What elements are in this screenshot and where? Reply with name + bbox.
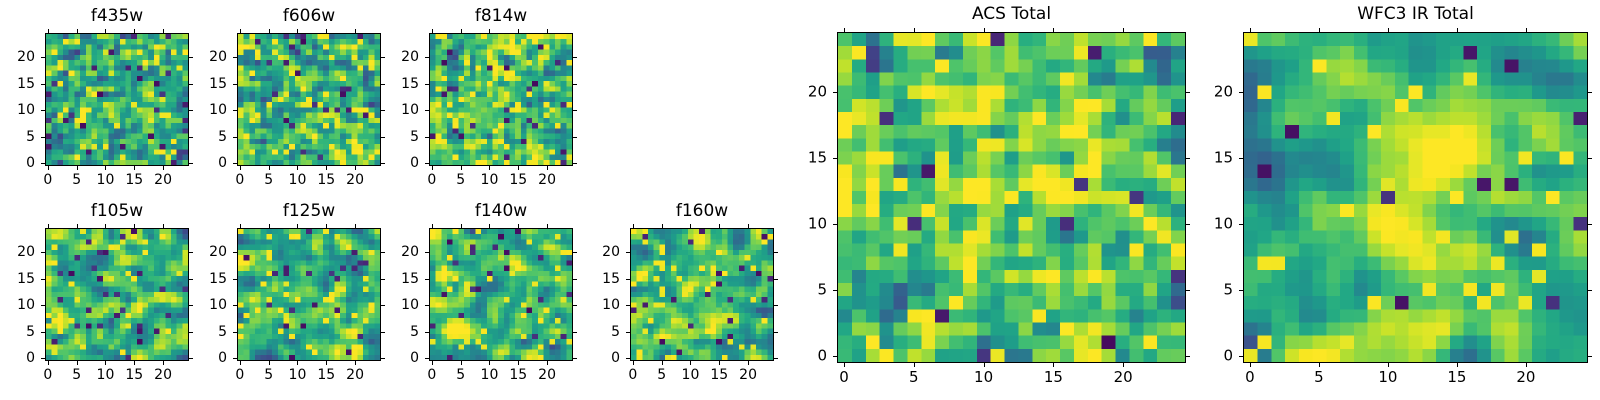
figure-canvas: f435w0510152005101520f606w05101520051015… [0,0,1600,400]
ytick-right-acs-total-10 [1186,224,1190,225]
xticklabel-wfc3-total-0: 0 [1245,370,1255,385]
yticklabel-f606w-10: 10 [209,103,227,117]
heatmap-canvas-f160w [631,229,773,360]
xtick-f105w-20 [163,361,164,365]
ytick-right-f435w-15 [189,84,193,85]
xticklabel-f160w-0: 0 [628,368,637,382]
xticklabel-f105w-20: 20 [154,368,172,382]
xtick-f160w-0 [633,361,634,365]
xtick-f606w-10 [297,166,298,170]
yticklabel-f160w-0: 0 [611,351,620,365]
panel-title-f606w: f606w [237,8,381,25]
xtick-f105w-5 [77,361,78,365]
heatmap-f435w [45,33,189,166]
ytick-right-f160w-20 [774,252,778,253]
xtick-f105w-10 [105,361,106,365]
yticklabel-f125w-10: 10 [209,298,227,312]
xticklabel-f435w-15: 15 [125,173,143,187]
xtick-acs-total-0 [844,363,845,367]
ytick-right-f814w-5 [573,137,577,138]
xtick-f435w-20 [163,166,164,170]
heatmap-canvas-f105w [46,229,188,360]
yticklabel-f125w-20: 20 [209,245,227,259]
heatmap-f160w [630,228,774,361]
heatmap-canvas-f606w [238,34,380,165]
yticklabel-f435w-5: 5 [26,130,35,144]
ytick-right-f606w-20 [381,57,385,58]
ytick-right-f435w-5 [189,137,193,138]
xtick-f606w-15 [326,166,327,170]
panel-title-f160w: f160w [630,203,774,220]
xticklabel-f140w-15: 15 [509,368,527,382]
xtick-f125w-20 [355,361,356,365]
heatmap-wfc3-total [1243,32,1588,363]
xtick-f160w-20 [748,361,749,365]
ytick-right-f105w-0 [189,358,193,359]
yticklabel-f140w-20: 20 [401,245,419,259]
heatmap-canvas-f814w [430,34,572,165]
yticklabel-acs-total-5: 5 [817,283,827,298]
ytick-right-acs-total-15 [1186,158,1190,159]
ytick-right-f606w-10 [381,110,385,111]
xticklabel-f125w-20: 20 [346,368,364,382]
xtick-f435w-10 [105,166,106,170]
xtick-f435w-5 [77,166,78,170]
xtick-wfc3-total-20 [1526,363,1527,367]
ytick-right-f105w-10 [189,305,193,306]
ytick-right-wfc3-total-15 [1588,158,1592,159]
xticklabel-f606w-15: 15 [317,173,335,187]
yticklabel-f160w-10: 10 [602,298,620,312]
ytick-right-f606w-15 [381,84,385,85]
ytick-right-f125w-0 [381,358,385,359]
xticklabel-f125w-0: 0 [235,368,244,382]
yticklabel-f105w-0: 0 [26,351,35,365]
xtick-f105w-15 [134,361,135,365]
xtick-wfc3-total-10 [1388,363,1389,367]
xtick-f105w-0 [48,361,49,365]
yticklabel-f814w-5: 5 [410,130,419,144]
yticklabel-f435w-20: 20 [17,50,35,64]
yticklabel-wfc3-total-15: 15 [1214,150,1233,165]
xticklabel-f125w-5: 5 [264,368,273,382]
panel-title-f140w: f140w [429,203,573,220]
yticklabel-f140w-0: 0 [410,351,419,365]
yticklabel-f435w-0: 0 [26,156,35,170]
yticklabel-f160w-15: 15 [602,272,620,286]
xticklabel-acs-total-0: 0 [839,370,849,385]
yticklabel-f105w-5: 5 [26,325,35,339]
xtick-f160w-15 [719,361,720,365]
xtick-f814w-15 [518,166,519,170]
ytick-right-f160w-0 [774,358,778,359]
ytick-right-f435w-20 [189,57,193,58]
ytick-right-f814w-20 [573,57,577,58]
xticklabel-f140w-10: 10 [481,368,499,382]
heatmap-canvas-f125w [238,229,380,360]
ytick-right-f435w-10 [189,110,193,111]
yticklabel-f435w-15: 15 [17,77,35,91]
ytick-right-f160w-5 [774,332,778,333]
heatmap-f140w [429,228,573,361]
heatmap-f814w [429,33,573,166]
xtick-f140w-5 [461,361,462,365]
xticklabel-f140w-5: 5 [456,368,465,382]
panel-title-f435w: f435w [45,8,189,25]
xtick-wfc3-total-15 [1457,363,1458,367]
yticklabel-f606w-15: 15 [209,77,227,91]
xticklabel-f606w-20: 20 [346,173,364,187]
ytick-right-wfc3-total-5 [1588,290,1592,291]
xticklabel-f160w-10: 10 [682,368,700,382]
xtick-f125w-15 [326,361,327,365]
xtick-f814w-20 [547,166,548,170]
yticklabel-f160w-20: 20 [602,245,620,259]
xticklabel-f814w-5: 5 [456,173,465,187]
ytick-right-f814w-0 [573,163,577,164]
yticklabel-f606w-0: 0 [218,156,227,170]
ytick-right-acs-total-5 [1186,290,1190,291]
heatmap-canvas-acs-total [838,33,1185,362]
yticklabel-f160w-5: 5 [611,325,620,339]
xticklabel-wfc3-total-10: 10 [1378,370,1397,385]
ytick-right-f814w-10 [573,110,577,111]
yticklabel-wfc3-total-20: 20 [1214,84,1233,99]
yticklabel-acs-total-0: 0 [817,349,827,364]
xtick-f435w-0 [48,166,49,170]
heatmap-f105w [45,228,189,361]
xtick-wfc3-total-0 [1250,363,1251,367]
ytick-right-f125w-10 [381,305,385,306]
ytick-right-f160w-10 [774,305,778,306]
ytick-right-f105w-15 [189,279,193,280]
panel-title-f105w: f105w [45,203,189,220]
heatmap-f125w [237,228,381,361]
xticklabel-f105w-0: 0 [43,368,52,382]
yticklabel-wfc3-total-10: 10 [1214,216,1233,231]
yticklabel-f125w-15: 15 [209,272,227,286]
ytick-right-f140w-0 [573,358,577,359]
ytick-right-f140w-5 [573,332,577,333]
yticklabel-f105w-15: 15 [17,272,35,286]
xticklabel-wfc3-total-15: 15 [1447,370,1466,385]
yticklabel-f814w-10: 10 [401,103,419,117]
xtick-f125w-10 [297,361,298,365]
heatmap-canvas-wfc3-total [1244,33,1587,362]
panel-title-wfc3-total: WFC3 IR Total [1243,6,1588,23]
xtick-f125w-0 [240,361,241,365]
heatmap-acs-total [837,32,1186,363]
ytick-right-f140w-20 [573,252,577,253]
panel-title-acs-total: ACS Total [837,6,1186,23]
xticklabel-f125w-10: 10 [289,368,307,382]
xticklabel-acs-total-15: 15 [1044,370,1063,385]
yticklabel-acs-total-15: 15 [808,150,827,165]
ytick-right-f140w-10 [573,305,577,306]
xticklabel-f435w-5: 5 [72,173,81,187]
ytick-right-f160w-15 [774,279,778,280]
xticklabel-wfc3-total-5: 5 [1314,370,1324,385]
ytick-right-f140w-15 [573,279,577,280]
xticklabel-f435w-20: 20 [154,173,172,187]
xtick-f160w-10 [690,361,691,365]
ytick-right-f105w-5 [189,332,193,333]
yticklabel-f606w-20: 20 [209,50,227,64]
yticklabel-f814w-15: 15 [401,77,419,91]
ytick-right-wfc3-total-10 [1588,224,1592,225]
xtick-f140w-20 [547,361,548,365]
yticklabel-acs-total-20: 20 [808,84,827,99]
ytick-right-wfc3-total-20 [1588,92,1592,93]
xticklabel-acs-total-5: 5 [909,370,919,385]
yticklabel-f435w-10: 10 [17,103,35,117]
yticklabel-f125w-5: 5 [218,325,227,339]
yticklabel-wfc3-total-0: 0 [1223,349,1233,364]
yticklabel-f125w-0: 0 [218,351,227,365]
xticklabel-f160w-5: 5 [657,368,666,382]
xticklabel-f140w-0: 0 [427,368,436,382]
yticklabel-f814w-20: 20 [401,50,419,64]
ytick-right-f125w-15 [381,279,385,280]
ytick-right-f435w-0 [189,163,193,164]
xticklabel-f140w-20: 20 [538,368,556,382]
panel-title-f125w: f125w [237,203,381,220]
yticklabel-f140w-5: 5 [410,325,419,339]
xticklabel-f105w-5: 5 [72,368,81,382]
xtick-f814w-10 [489,166,490,170]
xtick-f814w-5 [461,166,462,170]
yticklabel-f606w-5: 5 [218,130,227,144]
yticklabel-f140w-15: 15 [401,272,419,286]
ytick-right-wfc3-total-0 [1588,356,1592,357]
xtick-f140w-15 [518,361,519,365]
heatmap-canvas-f140w [430,229,572,360]
xticklabel-f606w-0: 0 [235,173,244,187]
xticklabel-f105w-10: 10 [97,368,115,382]
ytick-right-f814w-15 [573,84,577,85]
yticklabel-f105w-10: 10 [17,298,35,312]
xticklabel-f435w-10: 10 [97,173,115,187]
ytick-right-f125w-5 [381,332,385,333]
xticklabel-f814w-0: 0 [427,173,436,187]
xtick-f606w-20 [355,166,356,170]
heatmap-canvas-f435w [46,34,188,165]
xtick-f435w-15 [134,166,135,170]
xtick-acs-total-20 [1123,363,1124,367]
yticklabel-f814w-0: 0 [410,156,419,170]
xticklabel-f105w-15: 15 [125,368,143,382]
ytick-right-f105w-20 [189,252,193,253]
yticklabel-f140w-10: 10 [401,298,419,312]
xticklabel-f814w-20: 20 [538,173,556,187]
xticklabel-acs-total-10: 10 [974,370,993,385]
yticklabel-acs-total-10: 10 [808,216,827,231]
ytick-right-f606w-5 [381,137,385,138]
panel-title-f814w: f814w [429,8,573,25]
xtick-f606w-5 [269,166,270,170]
xticklabel-wfc3-total-20: 20 [1516,370,1535,385]
xtick-f160w-5 [662,361,663,365]
xtick-acs-total-5 [914,363,915,367]
xtick-f814w-0 [432,166,433,170]
ytick-right-acs-total-20 [1186,92,1190,93]
xtick-acs-total-10 [984,363,985,367]
xtick-f606w-0 [240,166,241,170]
ytick-right-acs-total-0 [1186,356,1190,357]
yticklabel-f105w-20: 20 [17,245,35,259]
ytick-right-f125w-20 [381,252,385,253]
xticklabel-f160w-20: 20 [739,368,757,382]
xticklabel-f160w-15: 15 [710,368,728,382]
xticklabel-f606w-5: 5 [264,173,273,187]
yticklabel-wfc3-total-5: 5 [1223,283,1233,298]
xtick-wfc3-total-5 [1319,363,1320,367]
xticklabel-f814w-10: 10 [481,173,499,187]
xticklabel-acs-total-20: 20 [1114,370,1133,385]
xticklabel-f435w-0: 0 [43,173,52,187]
xticklabel-f125w-15: 15 [317,368,335,382]
xtick-f125w-5 [269,361,270,365]
xtick-f140w-0 [432,361,433,365]
xtick-acs-total-15 [1053,363,1054,367]
heatmap-f606w [237,33,381,166]
xticklabel-f814w-15: 15 [509,173,527,187]
ytick-right-f606w-0 [381,163,385,164]
xtick-f140w-10 [489,361,490,365]
xticklabel-f606w-10: 10 [289,173,307,187]
